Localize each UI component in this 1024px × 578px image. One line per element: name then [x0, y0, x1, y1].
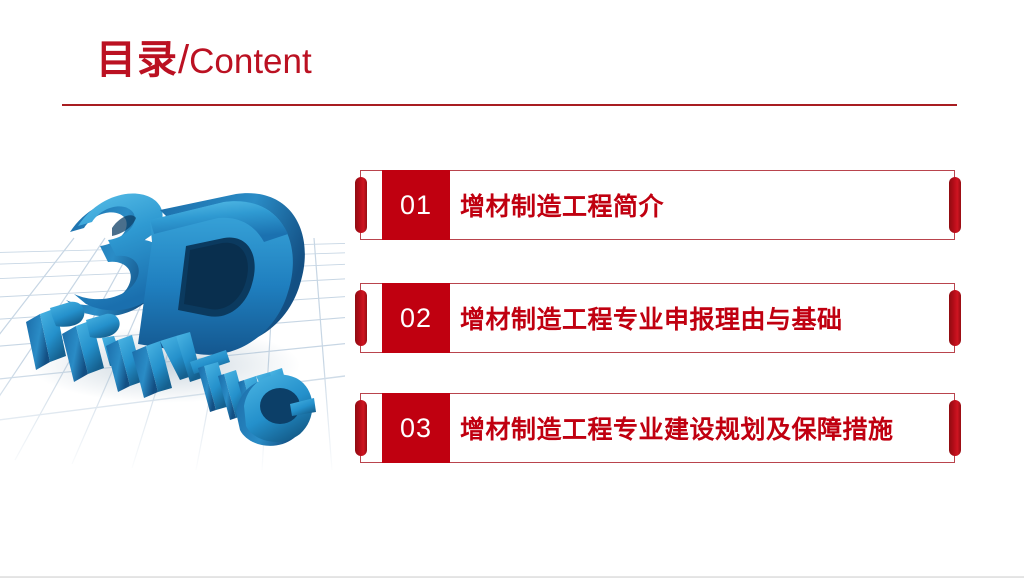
- 3d-printing-svg: [0, 150, 345, 470]
- page-title-en: Content: [189, 42, 312, 81]
- 3d-printing-illustration: [0, 150, 345, 470]
- left-cap-marker: [355, 177, 367, 233]
- presentation-slide: 目录/Content: [0, 0, 1024, 578]
- left-cap-marker: [355, 290, 367, 346]
- list-item-number: 03: [382, 393, 450, 463]
- slide-header: 目录/Content: [62, 40, 957, 110]
- list-item[interactable]: 02 增材制造工程专业申报理由与基础: [355, 283, 955, 353]
- list-item-label: 增材制造工程专业申报理由与基础: [460, 283, 933, 353]
- list-item-label: 增材制造工程专业建设规划及保障措施: [460, 393, 933, 463]
- right-cap-marker: [949, 290, 961, 346]
- list-item[interactable]: 01 增材制造工程简介: [355, 170, 955, 240]
- slide-bottom-divider: [0, 576, 1024, 577]
- right-cap-marker: [949, 400, 961, 456]
- list-item[interactable]: 03 增材制造工程专业建设规划及保障措施: [355, 393, 955, 463]
- list-item-number: 02: [382, 283, 450, 353]
- left-cap-marker: [355, 400, 367, 456]
- content-list: 01 增材制造工程简介 02 增材制造工程专业申报理由与基础 03 增材制造工程…: [355, 170, 965, 470]
- page-title-cn: 目录: [96, 37, 178, 83]
- title-divider: [62, 104, 957, 106]
- list-item-number: 01: [382, 170, 450, 240]
- right-cap-marker: [949, 177, 961, 233]
- list-item-label: 增材制造工程简介: [460, 170, 933, 240]
- page-title-separator: /: [178, 38, 189, 82]
- page-title: 目录/Content: [96, 40, 312, 80]
